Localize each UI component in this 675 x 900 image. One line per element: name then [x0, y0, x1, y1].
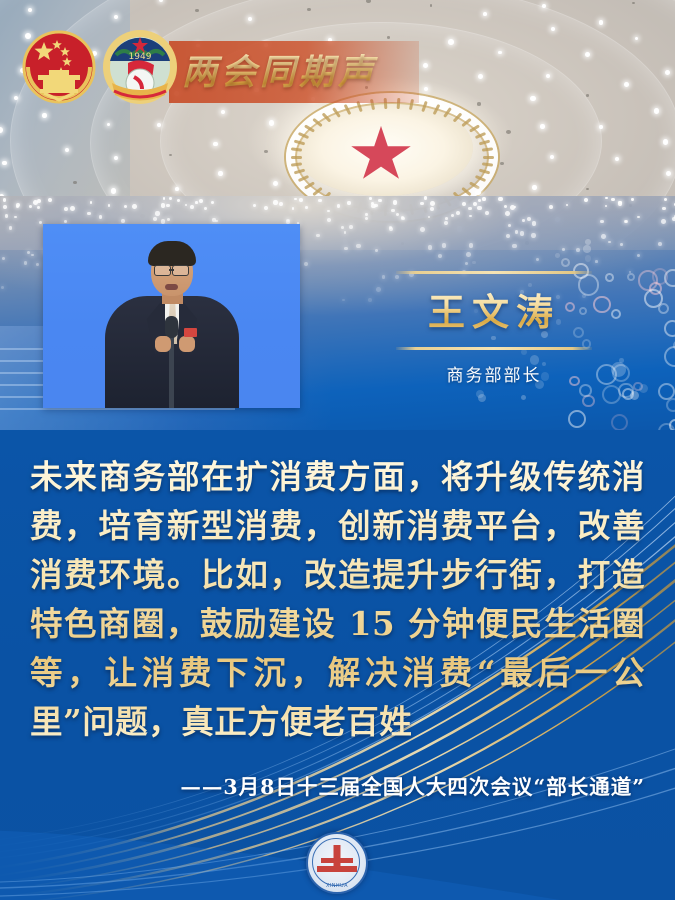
xinhua-logo-icon: XINHUA [306, 832, 368, 894]
photo-hand-right [179, 336, 195, 352]
quote-section: 未来商务部在扩消费方面，将升级传统消费，培育新型消费，创新消费平台，改善消费环境… [0, 430, 675, 900]
xinhua-logo-bar-2 [317, 866, 357, 872]
quote-text: 未来商务部在扩消费方面，将升级传统消费，培育新型消费，创新消费平台，改善消费环境… [30, 452, 645, 746]
photo-glasses-bridge [169, 269, 174, 271]
national-emblem-icon [22, 27, 96, 107]
microphone-icon [165, 316, 178, 338]
cppcc-emblem-icon: 1949 [100, 25, 180, 109]
photo-delegate-badge [184, 328, 197, 337]
poster-root: 1949 两会同期声 [0, 0, 675, 900]
xinhua-logo-bar-1 [321, 858, 353, 863]
photo-hair [148, 241, 196, 266]
program-title: 两会同期声 [182, 47, 412, 99]
xinhua-logo-text: XINHUA [308, 883, 366, 889]
photo-glasses-right [172, 265, 189, 276]
photo-hand-left [155, 336, 171, 352]
quote-attribution: ——3月8日十三届全国人大四次会议“部长通道” [30, 770, 645, 800]
speaker-photo [43, 224, 300, 408]
photo-mouth [165, 284, 178, 290]
speaker-role: 商务部部长 [396, 362, 592, 390]
name-rule-top [396, 271, 592, 274]
speaker-name: 王文涛 [396, 283, 592, 341]
name-rule-bottom [396, 347, 592, 350]
